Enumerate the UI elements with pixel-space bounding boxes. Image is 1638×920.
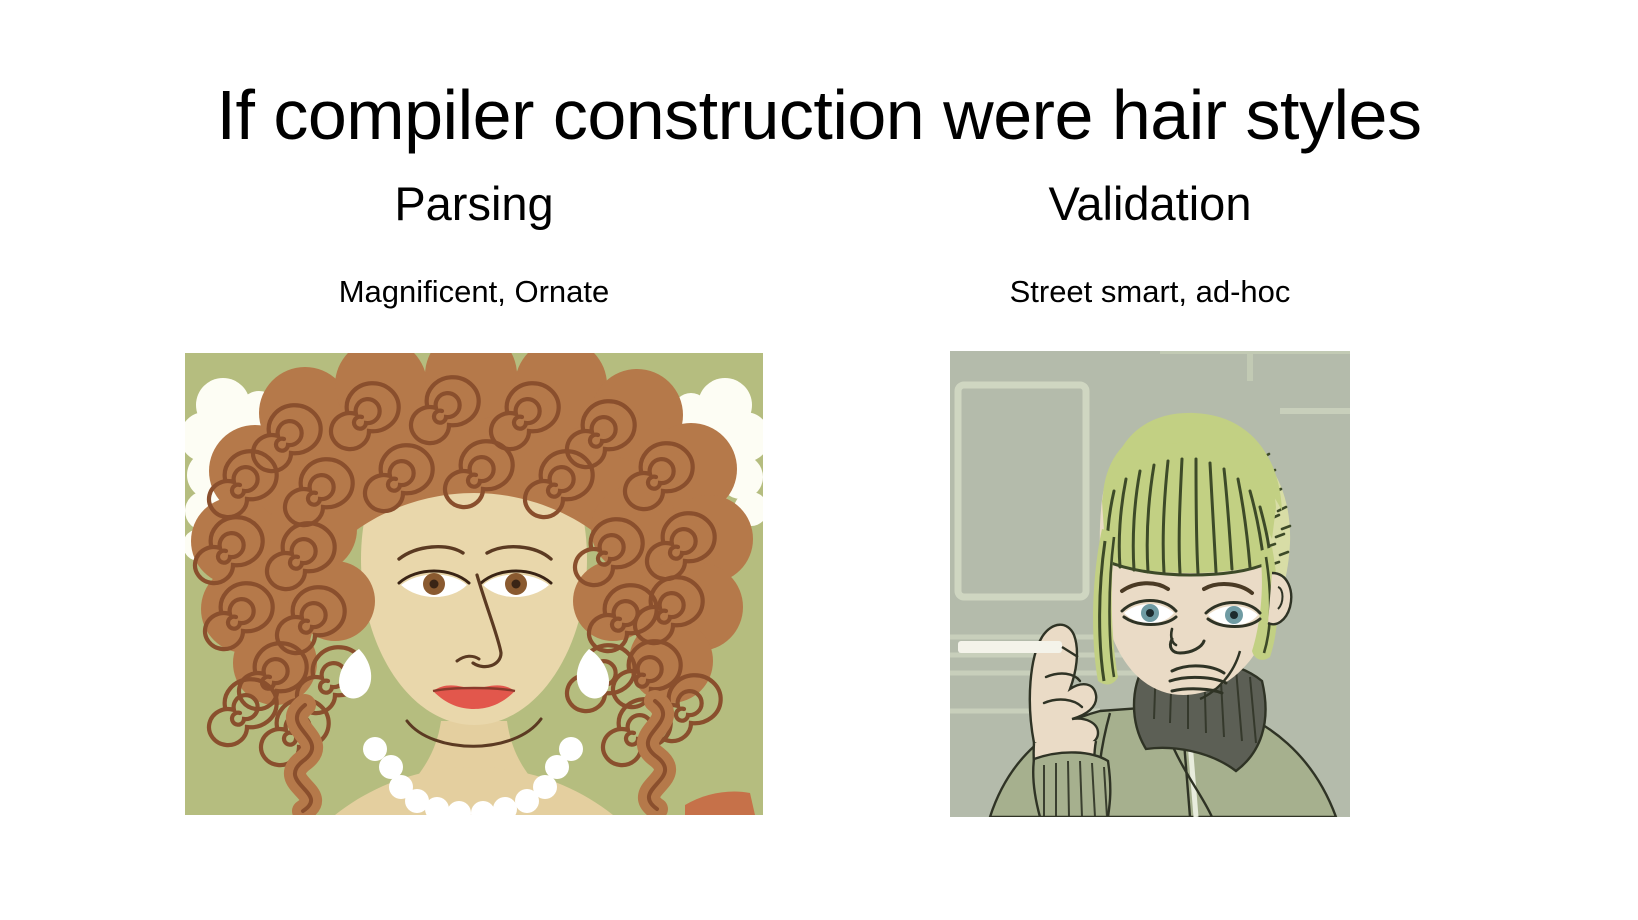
column-heading-parsing: Parsing <box>154 170 794 234</box>
column-parsing: Parsing Magnificent, Ornate <box>154 170 794 312</box>
column-heading-validation: Validation <box>830 170 1470 234</box>
figure-wrap-validation <box>830 351 1470 817</box>
punk-bleached-bob-portrait-image <box>950 351 1350 817</box>
ornate-curly-hair-portrait-image <box>185 353 763 815</box>
column-subheading-validation: Street smart, ad-hoc <box>830 234 1470 312</box>
column-subheading-parsing: Magnificent, Ornate <box>154 234 794 312</box>
figure-wrap-parsing <box>154 353 794 815</box>
columns-container: Parsing Magnificent, Ornate <box>0 170 1638 870</box>
page-title: If compiler construction were hair style… <box>0 73 1638 157</box>
slide-root: If compiler construction were hair style… <box>0 0 1638 920</box>
column-validation: Validation Street smart, ad-hoc <box>830 170 1470 312</box>
